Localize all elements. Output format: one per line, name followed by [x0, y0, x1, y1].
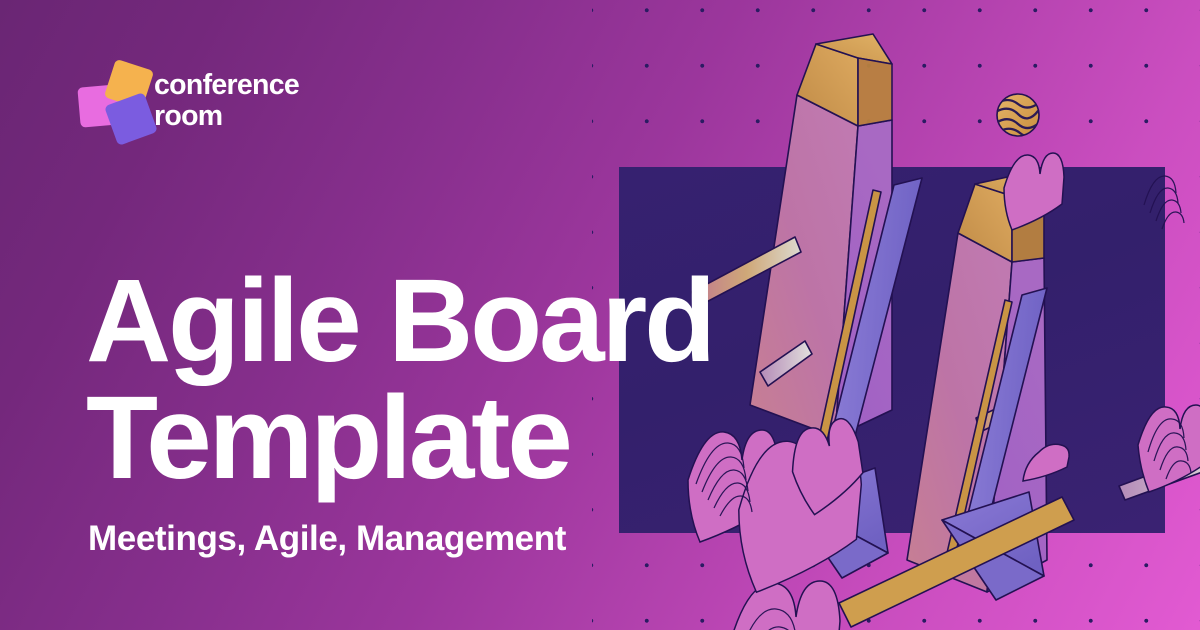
page-subtitle: Meetings, Agile, Management [88, 519, 566, 559]
brand-name: conference room [154, 70, 299, 132]
page-title: Agile Board Template [86, 263, 786, 497]
brand-logo[interactable]: conference room [76, 58, 376, 154]
social-card: conference room Agile Board Template Mee… [0, 0, 1200, 630]
